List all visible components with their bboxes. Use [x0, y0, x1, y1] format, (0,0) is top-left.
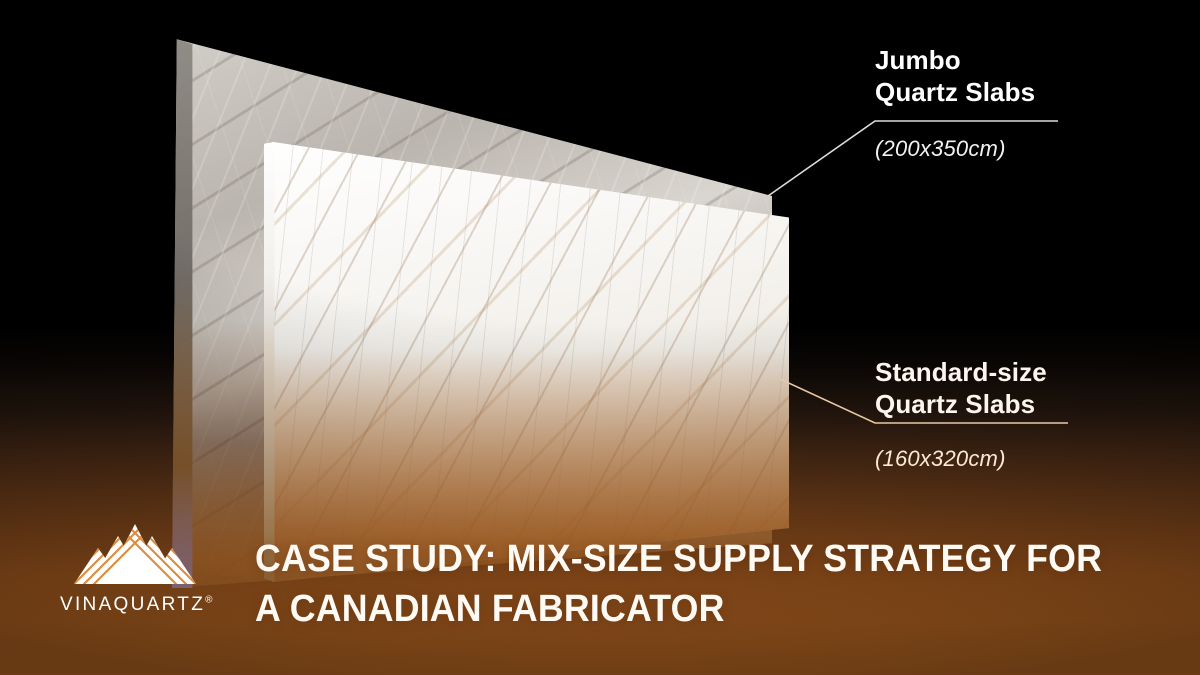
callout-jumbo: Jumbo Quartz Slabs (200x350cm): [875, 45, 1035, 162]
callout-standard-dimension: (160x320cm): [875, 446, 1047, 472]
callout-jumbo-title: Jumbo Quartz Slabs: [875, 45, 1035, 108]
page-title-line2: A CANADIAN FABRICATOR: [255, 584, 1101, 634]
banner-canvas: Jumbo Quartz Slabs (200x350cm) Standard-…: [0, 0, 1200, 675]
callout-jumbo-title-line2: Quartz Slabs: [875, 77, 1035, 107]
mountain-lattice-logo-icon: [74, 522, 196, 590]
page-title-line1: CASE STUDY: MIX-SIZE SUPPLY STRATEGY FOR: [255, 534, 1101, 584]
brand-name: VINAQUARTZ®: [60, 594, 210, 616]
callout-standard-title: Standard-size Quartz Slabs: [875, 357, 1047, 420]
callout-standard-title-line2: Quartz Slabs: [875, 389, 1035, 419]
brand-logo: VINAQUARTZ®: [60, 522, 210, 616]
registered-mark: ®: [205, 595, 212, 606]
callout-jumbo-title-line1: Jumbo: [875, 45, 961, 75]
callout-jumbo-dimension: (200x350cm): [875, 136, 1035, 162]
brand-name-text: VINAQUARTZ: [60, 594, 205, 615]
callout-standard-title-line1: Standard-size: [875, 357, 1047, 387]
callout-standard: Standard-size Quartz Slabs (160x320cm): [875, 357, 1047, 472]
page-title: CASE STUDY: MIX-SIZE SUPPLY STRATEGY FOR…: [255, 534, 1101, 634]
